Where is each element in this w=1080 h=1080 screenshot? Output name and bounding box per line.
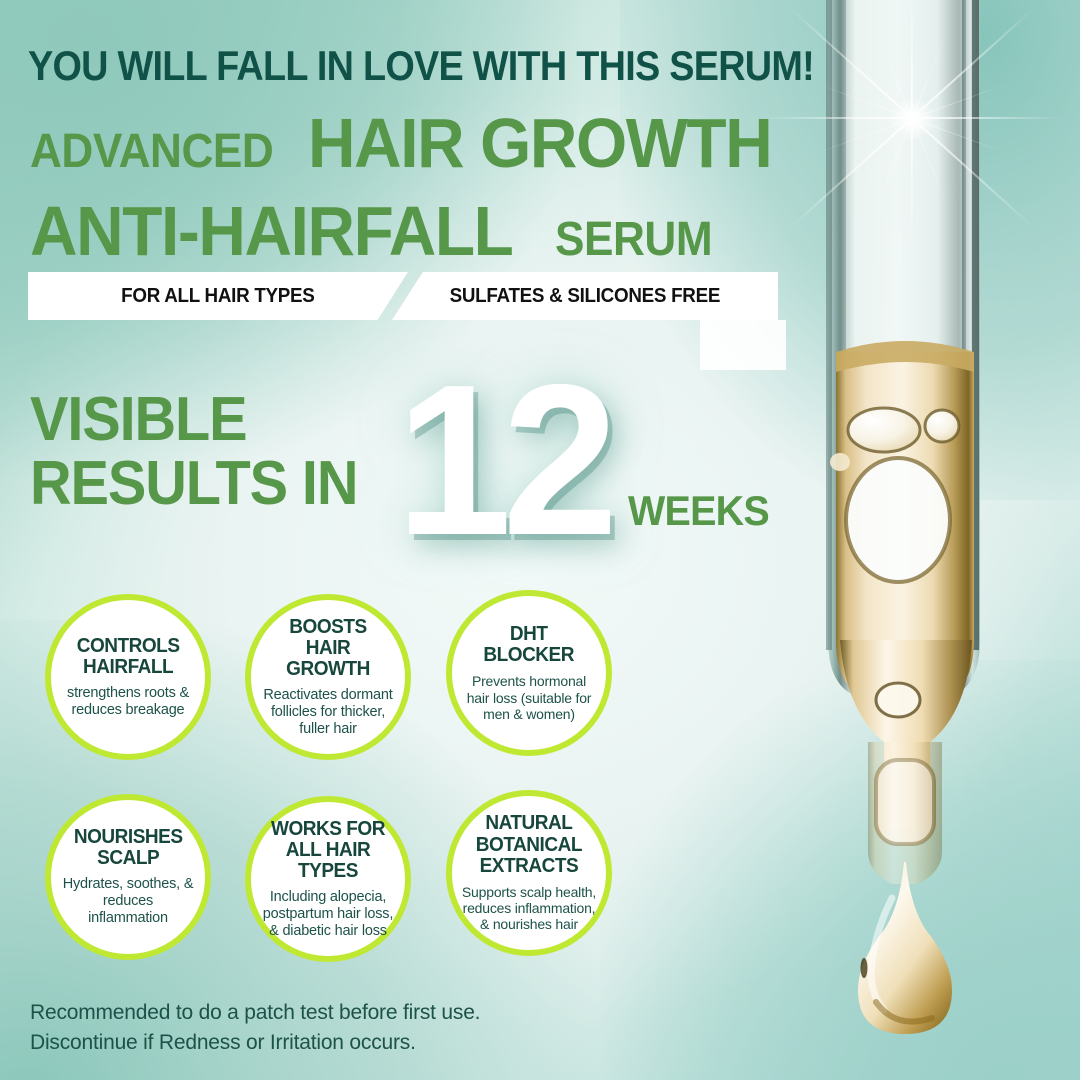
poster-canvas: YOU WILL FALL IN LOVE WITH THIS SERUM! A… — [0, 0, 1080, 1080]
ribbon-for-all-hair-types: FOR ALL HAIR TYPES — [28, 272, 408, 320]
disclaimer-text: Recommended to do a patch test before fi… — [30, 998, 480, 1058]
benefit-title: CONTROLS HAIRFALL — [77, 636, 180, 678]
benefit-desc: Including alopecia, postpartum hair loss… — [263, 889, 393, 939]
ribbon-sulfates-silicones-free: SULFATES & SILICONES FREE — [392, 272, 778, 320]
ribbon-label: SULFATES & SILICONES FREE — [450, 285, 720, 308]
benefit-desc: Reactivates dormant follicles for thicke… — [263, 687, 392, 737]
benefit-desc: Supports scalp health, reduces inflammat… — [462, 884, 596, 933]
results-unit: WEEKS — [628, 487, 769, 535]
title-line-2: ANTI-HAIRFALLSERUM — [30, 196, 801, 266]
ribbon-label: FOR ALL HAIR TYPES — [121, 285, 314, 308]
title-word-hair-growth: HAIR GROWTH — [308, 108, 771, 178]
benefit-title: BOOSTS HAIR GROWTH — [262, 617, 393, 681]
title-word-advanced: ADVANCED — [30, 128, 273, 176]
benefit-title: DHT BLOCKER — [484, 624, 575, 666]
benefit-title: NATURAL BOTANICAL EXTRACTS — [476, 813, 582, 877]
results-words: VISIBLE RESULTS IN — [30, 388, 357, 517]
benefit-circle-controls-hairfall[interactable]: CONTROLS HAIRFALL strengthens roots & re… — [45, 594, 211, 760]
benefit-title: NOURISHES SCALP — [74, 827, 183, 869]
benefit-desc: Prevents hormonal hair loss (suitable fo… — [467, 673, 592, 722]
benefit-circle-natural-botanical-extracts[interactable]: NATURAL BOTANICAL EXTRACTS Supports scal… — [446, 790, 612, 956]
benefit-circle-dht-blocker[interactable]: DHT BLOCKER Prevents hormonal hair loss … — [446, 590, 612, 756]
benefit-title: WORKS FOR ALL HAIR TYPES — [262, 819, 393, 883]
title-word-serum: SERUM — [555, 216, 712, 264]
results-claim: VISIBLE RESULTS IN 12 WEEKS — [0, 380, 800, 560]
product-title: ADVANCEDHAIR GROWTH ANTI-HAIRFALLSERUM — [30, 108, 801, 266]
kicker-headline: YOU WILL FALL IN LOVE WITH THIS SERUM! — [28, 42, 814, 90]
benefit-circle-boosts-hair-growth[interactable]: BOOSTS HAIR GROWTH Reactivates dormant f… — [245, 594, 411, 760]
benefit-desc: strengthens roots & reduces breakage — [67, 685, 189, 719]
benefit-circle-works-for-all-hair-types[interactable]: WORKS FOR ALL HAIR TYPES Including alope… — [245, 796, 411, 962]
benefit-circle-grid: CONTROLS HAIRFALL strengthens roots & re… — [0, 584, 700, 970]
feature-ribbons: FOR ALL HAIR TYPES SULFATES & SILICONES … — [0, 272, 820, 336]
benefit-desc: Hydrates, soothes, & reduces inflammatio… — [63, 876, 194, 926]
title-line-1: ADVANCEDHAIR GROWTH — [30, 108, 801, 178]
title-word-anti-hairfall: ANTI-HAIRFALL — [30, 196, 512, 266]
results-number: 12 — [396, 352, 609, 567]
benefit-circle-nourishes-scalp[interactable]: NOURISHES SCALP Hydrates, soothes, & red… — [45, 794, 211, 960]
ribbon-tail-decor — [700, 320, 786, 370]
